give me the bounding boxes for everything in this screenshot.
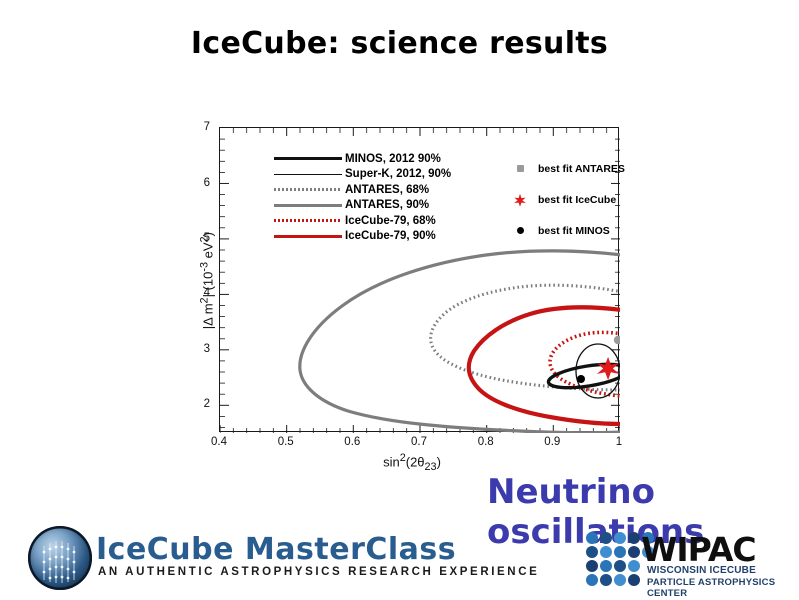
- wipac-logo: WIPAC WISCONSIN ICECUBE PARTICLE ASTROPH…: [585, 528, 790, 590]
- caption-line-1: Neutrino: [487, 472, 704, 512]
- marker-legend: best fit ANTARES best fit IceCube best f…: [502, 153, 667, 246]
- y-tick-5: 5: [184, 232, 210, 244]
- legend-key-superk: [272, 167, 345, 183]
- circle-icon: [502, 227, 538, 234]
- y-tick-6: 6: [184, 177, 210, 189]
- square-icon: [502, 165, 538, 172]
- marker-label-icecube: best fit IceCube: [538, 194, 616, 206]
- wipac-line-1: WISCONSIN ICECUBE: [647, 565, 756, 576]
- star-icon: [502, 193, 538, 207]
- curve-antares-90: [300, 251, 620, 433]
- x-tick-0.7: 0.7: [411, 436, 427, 448]
- marker-label-minos: best fit MINOS: [538, 225, 610, 237]
- x-tick-0.4: 0.4: [211, 436, 227, 448]
- oscillation-contour-figure: |Δ m2| (10-3 eV2) 7 6 5 4 3 2 0.4 0.5 0.…: [182, 112, 642, 467]
- line-legend: MINOS, 2012 90% Super-K, 2012, 90% ANTAR…: [272, 151, 472, 244]
- y-tick-7: 7: [184, 121, 210, 133]
- page-title: IceCube: science results: [0, 26, 799, 61]
- legend-key-antares-90: [272, 198, 345, 214]
- legend-key-antares-68: [272, 182, 345, 198]
- legend-label-superk: Super-K, 2012, 90%: [345, 168, 451, 180]
- masterclass-tagline: AN AUTHENTIC ASTROPHYSICS RESEARCH EXPER…: [98, 566, 539, 578]
- marker-legend-item-icecube: best fit IceCube: [502, 184, 667, 215]
- wipac-line-2: PARTICLE ASTROPHYSICS CENTER: [647, 577, 790, 599]
- masterclass-wordmark: IceCube MasterClass: [96, 532, 456, 567]
- best-fit-icecube-marker: [597, 357, 619, 380]
- plot-area: MINOS, 2012 90% Super-K, 2012, 90% ANTAR…: [219, 127, 619, 432]
- legend-label-antares-68: ANTARES, 68%: [345, 184, 429, 196]
- x-tick-0.8: 0.8: [478, 436, 494, 448]
- legend-label-minos: MINOS, 2012 90%: [345, 153, 441, 165]
- legend-label-icecube-68: IceCube-79, 68%: [345, 215, 436, 227]
- legend-label-antares-90: ANTARES, 90%: [345, 199, 429, 211]
- legend-item-minos: MINOS, 2012 90%: [272, 151, 472, 167]
- legend-item-antares-68: ANTARES, 68%: [272, 182, 472, 198]
- y-tick-3: 3: [184, 343, 210, 355]
- x-tick-0.5: 0.5: [278, 436, 294, 448]
- y-tick-4: 4: [184, 287, 210, 299]
- x-axis-label: sin2(2θ23): [182, 452, 642, 473]
- legend-key-icecube-68: [272, 213, 345, 229]
- icecube-masterclass-logo: IceCube MasterClass AN AUTHENTIC ASTROPH…: [28, 522, 528, 592]
- y-axis-label: |Δ m2| (10-3 eV2): [198, 196, 215, 366]
- wipac-wordmark: WIPAC: [641, 530, 756, 569]
- x-tick-0.6: 0.6: [344, 436, 360, 448]
- legend-item-superk: Super-K, 2012, 90%: [272, 167, 472, 183]
- legend-item-icecube-90: IceCube-79, 90%: [272, 229, 472, 245]
- slide-canvas: IceCube: science results |Δ m2| (10-3 eV…: [0, 0, 799, 600]
- best-fit-minos-marker: [577, 375, 585, 383]
- marker-legend-item-minos: best fit MINOS: [502, 215, 667, 246]
- marker-legend-item-antares: best fit ANTARES: [502, 153, 667, 184]
- marker-label-antares: best fit ANTARES: [538, 163, 625, 175]
- x-tick-0.9: 0.9: [544, 436, 560, 448]
- legend-item-icecube-68: IceCube-79, 68%: [272, 213, 472, 229]
- legend-label-icecube-90: IceCube-79, 90%: [345, 230, 436, 242]
- legend-key-minos: [272, 151, 345, 167]
- x-tick-1: 1: [616, 436, 622, 448]
- curve-antares-68: [431, 285, 620, 390]
- legend-key-icecube-90: [272, 229, 345, 245]
- legend-item-antares-90: ANTARES, 90%: [272, 198, 472, 214]
- y-tick-2: 2: [184, 398, 210, 410]
- best-fit-antares-marker: [614, 336, 620, 344]
- icecube-detector-icon: [28, 526, 92, 590]
